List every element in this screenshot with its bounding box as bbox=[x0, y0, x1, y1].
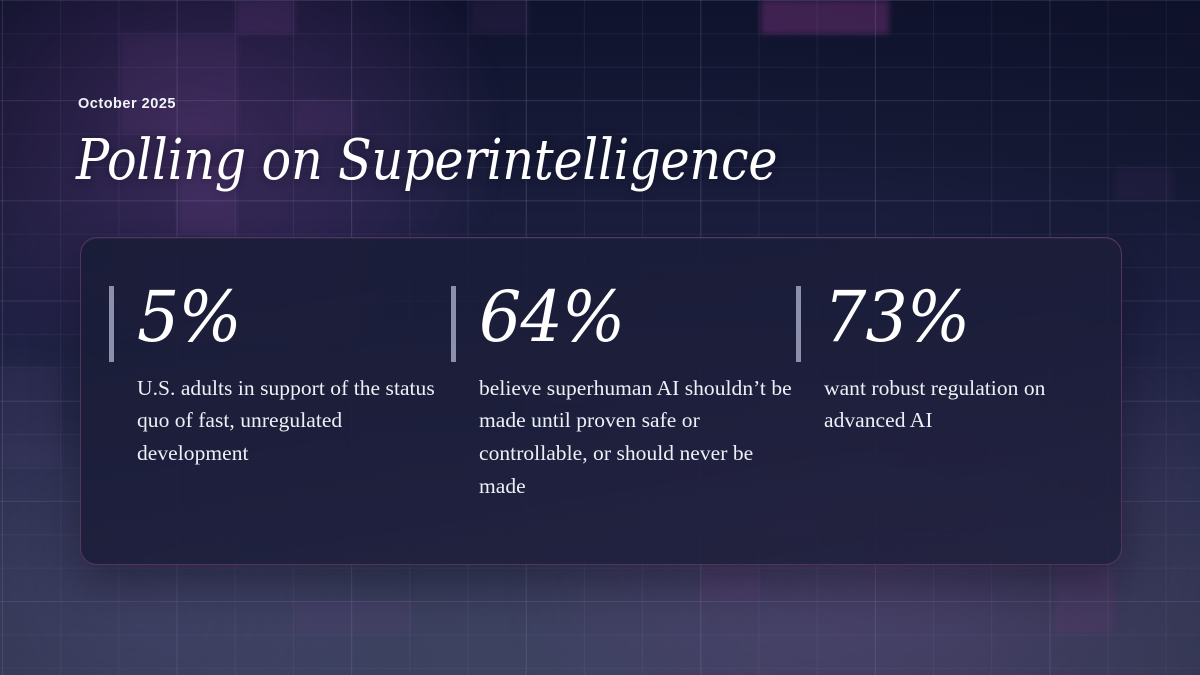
stat-description-2: believe superhuman AI shouldn’t be made … bbox=[479, 372, 796, 503]
stat-block-2: 64% believe superhuman AI shouldn’t be m… bbox=[451, 283, 796, 564]
slide-content: October 2025 Polling on Superintelligenc… bbox=[0, 0, 1200, 675]
slide-root: October 2025 Polling on Superintelligenc… bbox=[0, 0, 1200, 675]
accent-bar-icon bbox=[796, 286, 801, 362]
stats-row: 5% U.S. adults in support of the status … bbox=[81, 238, 1121, 564]
stat-description-1: U.S. adults in support of the status quo… bbox=[137, 372, 451, 470]
stat-description-3: want robust regulation on advanced AI bbox=[824, 372, 1096, 438]
page-title: Polling on Superintelligence bbox=[76, 132, 777, 191]
stat-block-3: 73% want robust regulation on advanced A… bbox=[796, 283, 1096, 564]
stats-card: 5% U.S. adults in support of the status … bbox=[80, 237, 1122, 565]
stat-value-2: 64% bbox=[479, 283, 780, 352]
accent-bar-icon bbox=[451, 286, 456, 362]
stat-value-3: 73% bbox=[824, 283, 1082, 352]
stat-block-1: 5% U.S. adults in support of the status … bbox=[109, 283, 451, 564]
stat-value-1: 5% bbox=[137, 283, 435, 352]
accent-bar-icon bbox=[109, 286, 114, 362]
date-eyebrow: October 2025 bbox=[78, 96, 176, 112]
